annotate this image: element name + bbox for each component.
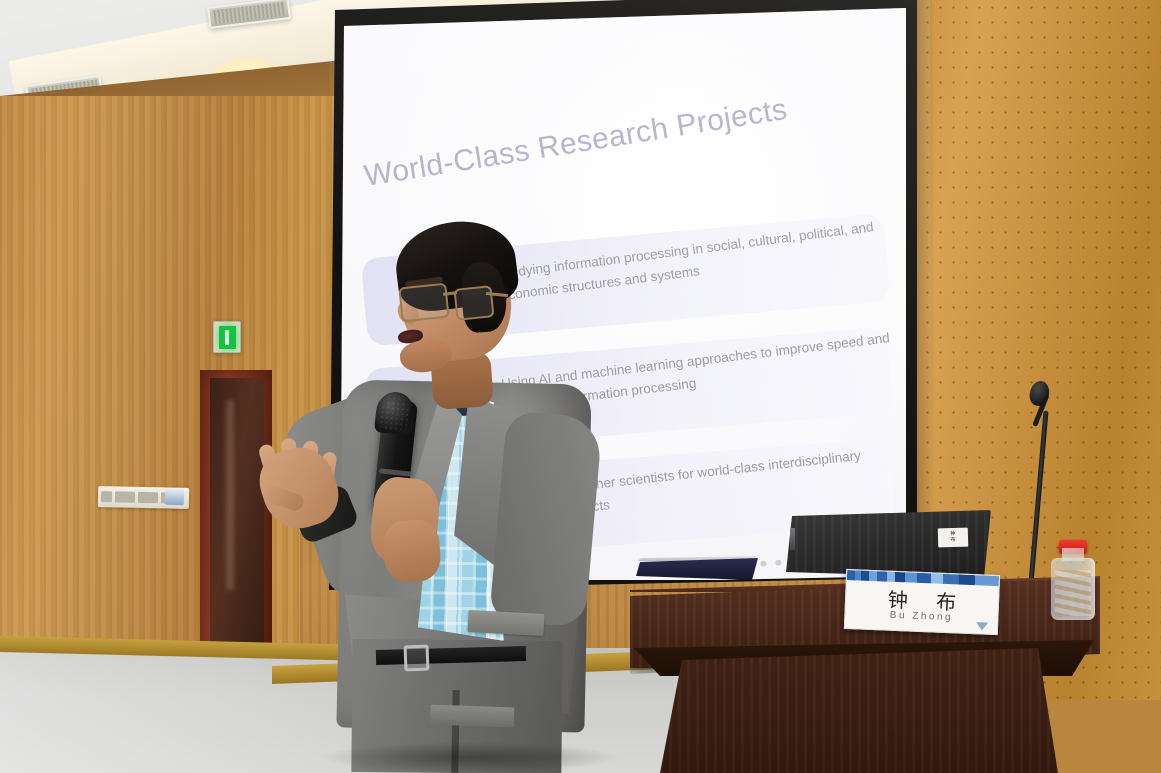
glasses-lens-right	[453, 285, 494, 321]
door-highlight	[226, 400, 234, 590]
floor-shadow	[320, 742, 620, 773]
speaker-right-arm	[489, 410, 603, 628]
switch-dark[interactable]	[101, 491, 112, 502]
laptop-sticker-line2: 布	[950, 537, 955, 543]
name-card-logo-icon	[976, 622, 988, 630]
glasses-icon	[398, 283, 449, 323]
belt-buckle	[404, 645, 430, 672]
wall-outlet[interactable]	[165, 489, 184, 505]
lecture-hall-photo: World-Class Research Projects Studying i…	[0, 0, 1161, 773]
name-card: 钟 布 Bu Zhong	[844, 569, 1000, 635]
podium-body	[660, 648, 1060, 773]
switch-2[interactable]	[138, 492, 158, 503]
exit-sign-icon	[213, 321, 241, 353]
slide-title: World-Class Research Projects	[362, 94, 782, 194]
jacket-pocket-flap	[467, 610, 544, 636]
exit-sign-glyph	[219, 326, 236, 349]
laptop-logo	[790, 528, 795, 550]
laptop-sticker: 钟 布	[938, 528, 969, 548]
wall-left	[0, 96, 340, 716]
water-bottle	[1051, 558, 1095, 620]
switch-1[interactable]	[115, 491, 135, 502]
speaker-right-hand-lower	[382, 518, 442, 584]
jacket-pocket-flap	[430, 705, 515, 728]
